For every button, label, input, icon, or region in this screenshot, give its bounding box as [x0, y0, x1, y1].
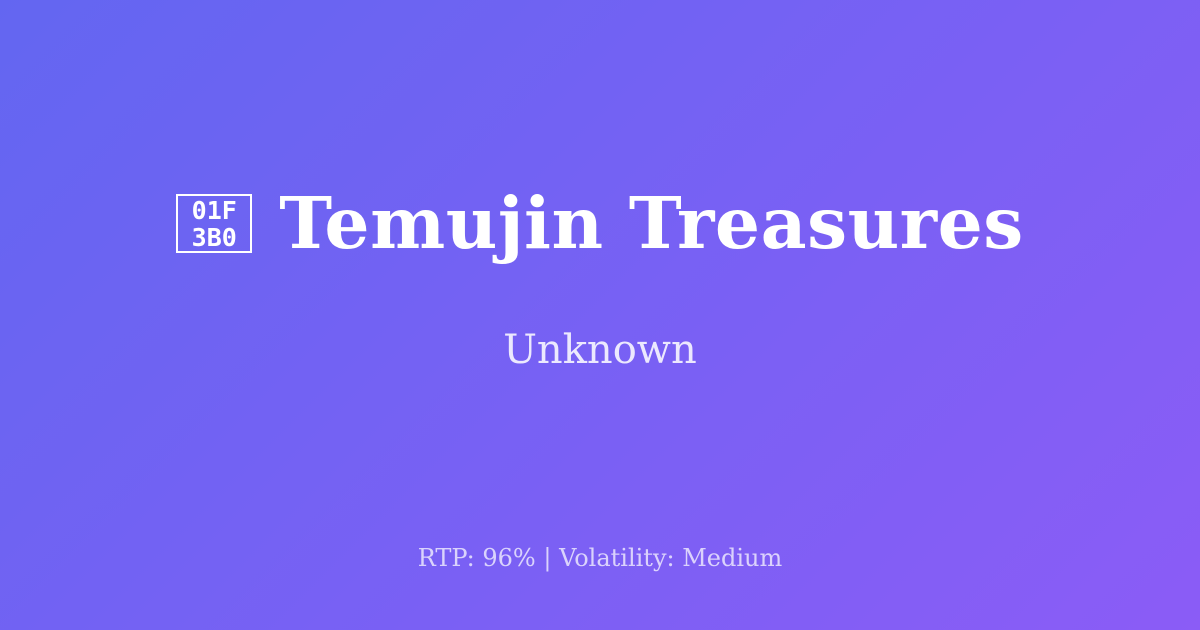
game-meta-line: RTP: 96% | Volatility: Medium [418, 546, 783, 570]
slot-machine-icon: 01F 3B0 [176, 194, 252, 253]
title-row: 01F 3B0 Temujin Treasures [0, 188, 1200, 259]
tofu-codepoint-bottom: 3B0 [192, 224, 237, 251]
og-share-card: 01F 3B0 Temujin Treasures Unknown RTP: 9… [0, 0, 1200, 630]
footer: RTP: 96% | Volatility: Medium [0, 546, 1200, 570]
page-subtitle: Unknown [503, 330, 697, 370]
tofu-codepoint-top: 01F [192, 197, 237, 224]
page-title: Temujin Treasures [279, 188, 1024, 259]
hero-block: 01F 3B0 Temujin Treasures Unknown [0, 0, 1200, 630]
